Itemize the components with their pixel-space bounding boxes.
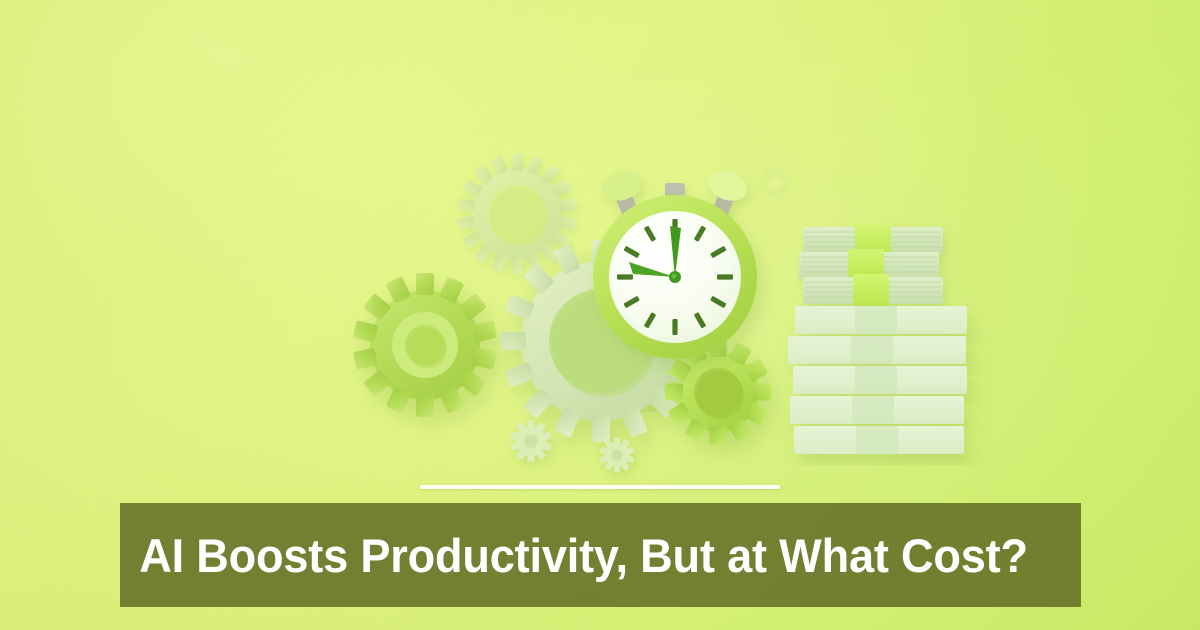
gear-small-right-icon (599, 438, 634, 473)
banner-image: AI Boosts Productivity, But at What Cost… (0, 0, 1200, 630)
page-title: AI Boosts Productivity, But at What Cost… (120, 532, 1028, 579)
money-stack-icon (788, 224, 967, 454)
headline-divider (420, 485, 780, 489)
alarm-clock-icon (593, 167, 757, 359)
headline-bar: AI Boosts Productivity, But at What Cost… (120, 503, 1081, 607)
gear-tiny-top-icon (757, 165, 793, 201)
gear-large-left-icon (353, 273, 497, 417)
gear-small-left-icon (510, 420, 552, 462)
